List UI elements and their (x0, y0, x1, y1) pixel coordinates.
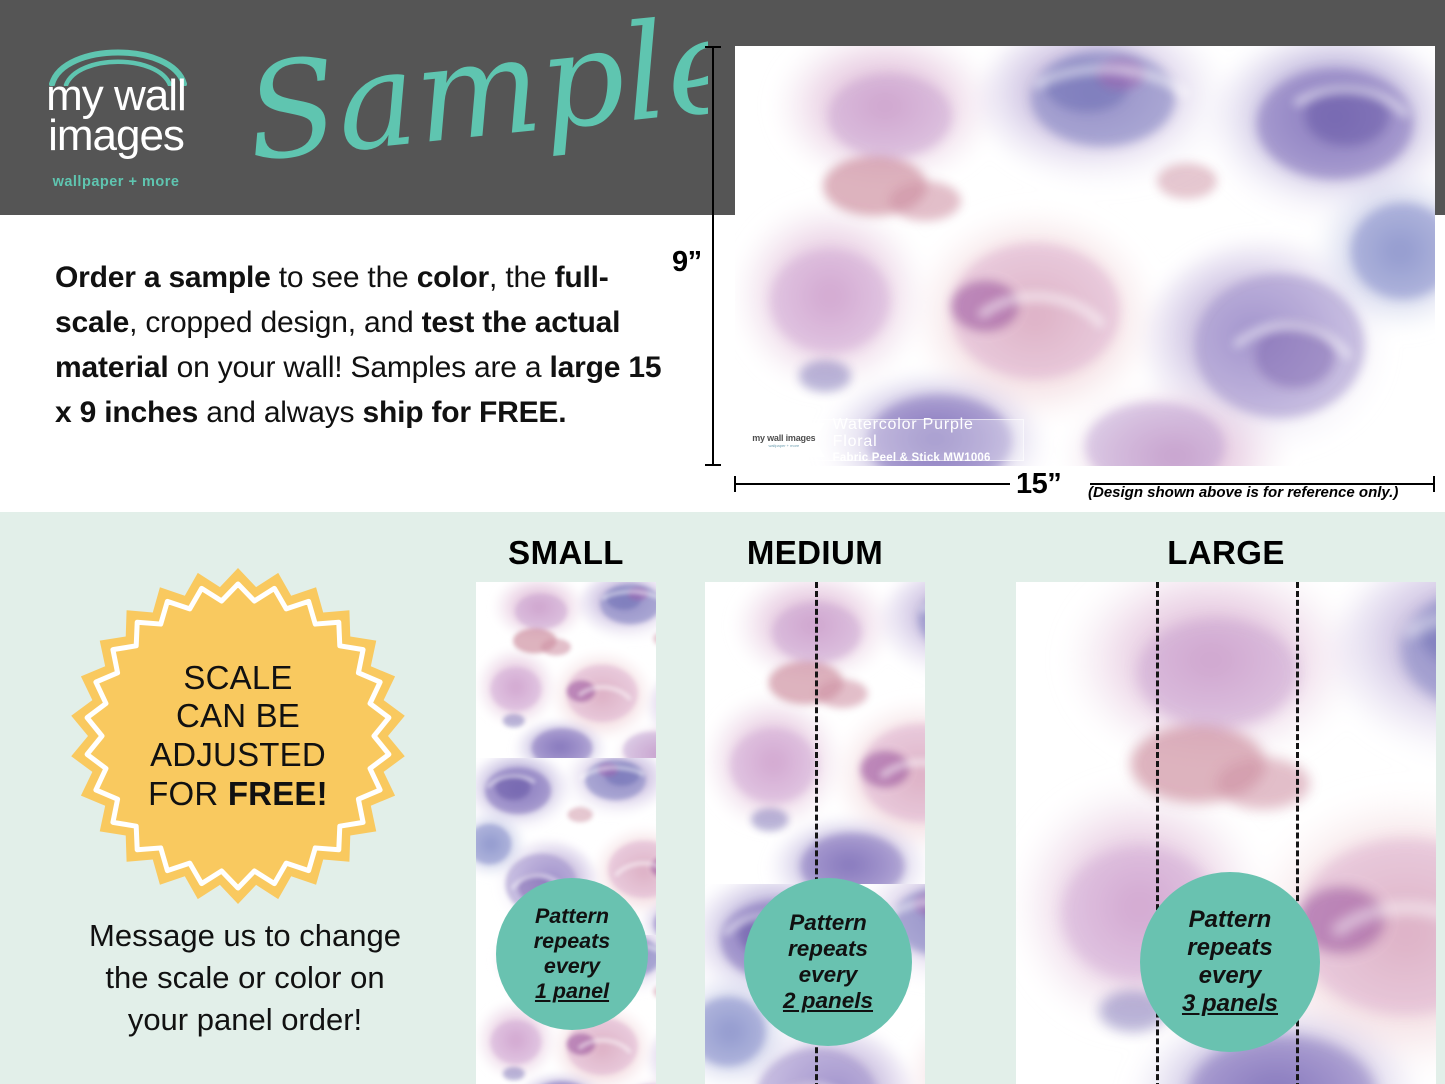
scale-adjust-badge: SCALE CAN BE ADJUSTED FOR FREE! (68, 566, 408, 906)
copy-part-3: , the (489, 261, 555, 294)
sample-label-logo-line-2: wallpaper + more (768, 443, 799, 448)
badge-line-4: FOR FREE! (148, 775, 328, 814)
sample-product-label: my wall images wallpaper + more Watercol… (740, 419, 1024, 461)
copy-part-10: ship for FREE. (362, 396, 566, 429)
badge-line-1: SCALE (183, 659, 292, 698)
copy-part-2: color (417, 261, 489, 294)
width-dimension-label: 15” (1016, 468, 1061, 501)
repeat-badge-large: Pattern repeats every 3 panels (1140, 872, 1320, 1052)
scale-heading-large: LARGE (1016, 534, 1436, 572)
copy-part-7: on your wall! Samples are a (168, 351, 549, 384)
repeat-large-line-2: repeats (1187, 934, 1272, 962)
height-rule-cap-bottom (705, 464, 721, 466)
sample-product-name: Watercolor Purple Floral (833, 416, 1023, 451)
width-rule-cap-right (1433, 476, 1435, 492)
order-a-sample-paragraph: Order a sample to see the color, the ful… (55, 255, 670, 435)
message-line-3: your panel order! (45, 999, 445, 1041)
width-rule-left (735, 483, 1010, 485)
scale-heading-medium: MEDIUM (705, 534, 925, 572)
copy-part-9: and always (198, 396, 362, 429)
repeat-large-line-1: Pattern (1189, 906, 1272, 934)
copy-part-1: to see the (271, 261, 417, 294)
scale-heading-small: SMALL (476, 534, 656, 572)
brand-logo: my wall images wallpaper + more (18, 24, 214, 206)
repeat-badge-medium: Pattern repeats every 2 panels (744, 878, 912, 1046)
badge-line-3: ADJUSTED (150, 736, 326, 775)
height-rule-line (712, 46, 714, 466)
height-rule-cap-top (705, 46, 721, 48)
message-line-2: the scale or color on (45, 957, 445, 999)
repeat-small-line-2: repeats (534, 929, 611, 954)
repeat-large-value: 3 panels (1182, 990, 1278, 1018)
logo-tagline: wallpaper + more (18, 174, 214, 190)
repeat-medium-value: 2 panels (783, 988, 873, 1014)
repeat-small-line-3: every (544, 954, 600, 979)
repeat-small-line-1: Pattern (535, 904, 609, 929)
sample-info-graphic: my wall images wallpaper + more Samples … (0, 0, 1445, 1084)
sample-label-logo: my wall images wallpaper + more (743, 423, 825, 457)
repeat-medium-line-3: every (799, 962, 858, 988)
logo-line-2: images (18, 116, 214, 156)
sample-product-sku: Fabric Peel & Stick MW1006 (833, 452, 1023, 465)
sample-preview-image: my wall images wallpaper + more Watercol… (735, 46, 1435, 466)
repeat-large-line-3: every (1199, 962, 1262, 990)
samples-script-text: Samples (239, 14, 708, 192)
reference-only-note: (Design shown above is for reference onl… (1088, 484, 1398, 501)
sample-label-logo-line-1: my wall images (752, 433, 815, 443)
repeat-medium-line-2: repeats (788, 936, 868, 962)
logo-wordmark: my wall images (18, 76, 214, 157)
copy-part-0: Order a sample (55, 261, 271, 294)
width-rule-cap-left (734, 476, 736, 492)
height-dimension-label: 9” (668, 244, 706, 281)
message-us-text: Message us to change the scale or color … (45, 915, 445, 1041)
samples-script-title: Samples (238, 14, 708, 204)
copy-part-5: , cropped design, and (129, 306, 421, 339)
badge-line-2: CAN BE (176, 697, 300, 736)
badge-line-4-prefix: FOR (148, 775, 228, 812)
scale-adjust-badge-text: SCALE CAN BE ADJUSTED FOR FREE! (68, 566, 408, 906)
message-line-1: Message us to change (45, 915, 445, 957)
watercolor-floral-artwork (735, 46, 1435, 466)
repeat-badge-small: Pattern repeats every 1 panel (496, 878, 648, 1030)
logo-line-1: my wall (18, 76, 214, 116)
panel-floral-tile (476, 582, 656, 758)
repeat-medium-line-1: Pattern (789, 910, 867, 936)
badge-line-4-strong: FREE! (228, 775, 328, 812)
repeat-small-value: 1 panel (535, 979, 609, 1004)
